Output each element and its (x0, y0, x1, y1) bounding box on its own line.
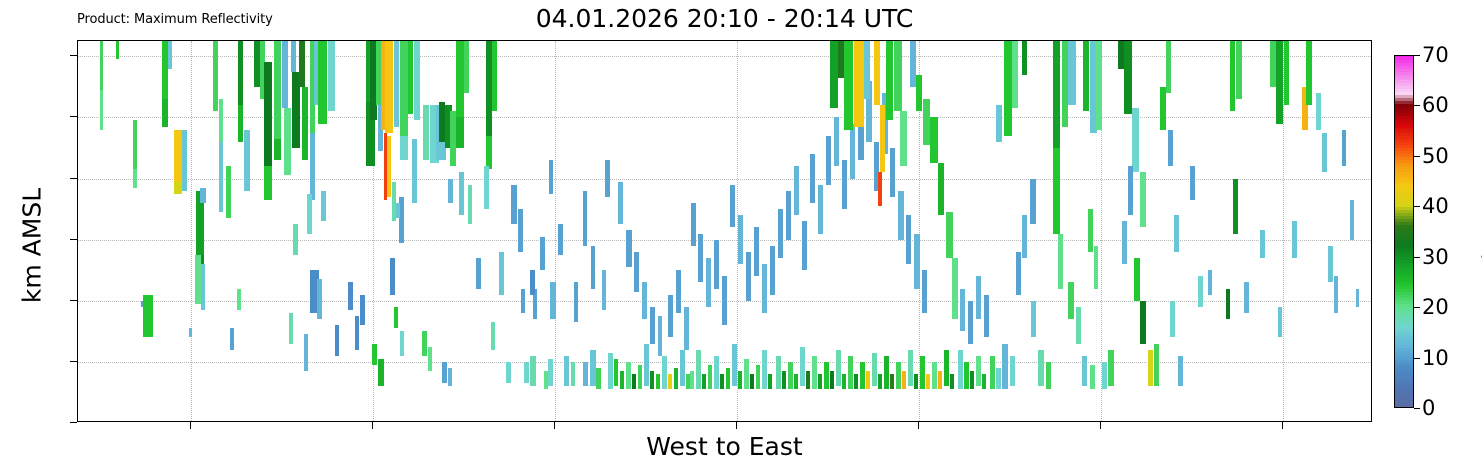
reflectivity-cell (906, 215, 911, 264)
reflectivity-cell (626, 362, 631, 390)
reflectivity-cell (230, 328, 234, 349)
reflectivity-cell (894, 41, 902, 111)
reflectivity-cell (291, 41, 296, 72)
reflectivity-cell (996, 105, 1002, 142)
reflectivity-cell (902, 371, 906, 389)
reflectivity-cell (1178, 356, 1183, 387)
reflectivity-cell (886, 41, 893, 120)
reflectivity-cell (355, 316, 359, 350)
reflectivity-cell (632, 374, 636, 389)
reflectivity-cell (614, 359, 618, 387)
reflectivity-cell (162, 99, 168, 127)
reflectivity-cell (1226, 289, 1230, 320)
colorbar-tick-label-0: 0 (1422, 396, 1435, 420)
reflectivity-cell (1148, 350, 1153, 387)
reflectivity-cell (1134, 258, 1140, 301)
reflectivity-cell (1122, 221, 1127, 264)
reflectivity-cell (864, 41, 870, 99)
reflectivity-cell (656, 374, 660, 389)
reflectivity-cell (237, 289, 241, 310)
reflectivity-cell (602, 270, 606, 310)
reflectivity-cell (938, 371, 942, 389)
reflectivity-cell (878, 172, 882, 206)
reflectivity-cell (706, 258, 711, 307)
reflectivity-cell (824, 362, 829, 390)
reflectivity-cell (818, 374, 822, 389)
reflectivity-cell (1342, 130, 1346, 167)
reflectivity-cell (996, 368, 1001, 389)
reflectivity-cell (938, 163, 944, 215)
reflectivity-cell (583, 362, 588, 386)
reflectivity-cell (274, 41, 281, 139)
reflectivity-cell (1230, 41, 1235, 111)
reflectivity-cell (860, 362, 865, 390)
reflectivity-cell (1038, 350, 1044, 387)
reflectivity-cell (464, 41, 469, 93)
reflectivity-cell (794, 374, 798, 389)
reflectivity-cell (1284, 41, 1289, 105)
reflectivity-cell (872, 353, 877, 387)
reflectivity-cell (1276, 41, 1283, 124)
colorbar-tick-label-10: 10 (1422, 346, 1449, 370)
reflectivity-cell (1096, 41, 1102, 130)
reflectivity-cell (100, 41, 103, 90)
reflectivity-cell (414, 41, 420, 120)
reflectivity-cell (818, 185, 823, 234)
reflectivity-cell (511, 185, 517, 225)
y-tick-mark-8 (70, 178, 77, 179)
reflectivity-cell (890, 148, 895, 197)
reflectivity-cell (768, 374, 772, 389)
reflectivity-cell (299, 41, 305, 87)
reflectivity-cell (946, 212, 953, 258)
reflectivity-cell (328, 41, 335, 111)
reflectivity-cell (394, 307, 398, 328)
reflectivity-cell (549, 160, 553, 194)
reflectivity-cell (448, 179, 453, 203)
reflectivity-cell (264, 62, 272, 166)
reflectivity-cell (1094, 246, 1098, 289)
reflectivity-cell (491, 322, 495, 350)
reflectivity-cell (1208, 270, 1212, 294)
reflectivity-cell (1322, 133, 1327, 173)
reflectivity-cell (638, 365, 642, 389)
reflectivity-cell (238, 41, 243, 105)
reflectivity-cell (521, 289, 525, 313)
reflectivity-cell (422, 331, 427, 355)
reflectivity-cell (1316, 93, 1321, 130)
reflectivity-cell (874, 41, 880, 105)
reflectivity-cell (448, 368, 452, 386)
reflectivity-cell (730, 185, 735, 228)
reflectivity-cell (932, 362, 937, 390)
reflectivity-cell (930, 117, 938, 163)
reflectivity-cell (1076, 307, 1081, 344)
reflectivity-cell (1053, 41, 1060, 148)
reflectivity-cell (848, 356, 853, 390)
reflectivity-cell (680, 350, 685, 387)
reflectivity-cell (1198, 276, 1203, 307)
reflectivity-cell (908, 350, 913, 387)
reflectivity-cell (400, 331, 404, 355)
colorbar-tick-mark-50 (1414, 156, 1420, 157)
reflectivity-cell (530, 270, 535, 294)
x-tick-mark-1 (372, 422, 373, 429)
reflectivity-cell (854, 374, 858, 389)
reflectivity-cell (776, 356, 781, 390)
reflectivity-cell (944, 350, 949, 387)
reflectivity-cell (289, 313, 293, 344)
reflectivity-cell (201, 264, 205, 310)
reflectivity-cell (722, 276, 727, 325)
reflectivity-cell (1244, 282, 1249, 313)
reflectivity-cell (898, 191, 904, 240)
y-tick-mark-4 (70, 300, 77, 301)
reflectivity-cell (558, 224, 563, 255)
reflectivity-cell (1278, 307, 1282, 338)
reflectivity-cell (574, 282, 578, 322)
reflectivity-cell (1090, 365, 1095, 389)
reflectivity-cell (423, 105, 429, 160)
reflectivity-cell (826, 136, 831, 185)
reflectivity-cell (976, 276, 981, 319)
reflectivity-cell (690, 371, 694, 389)
y-tick-mark-12 (70, 55, 77, 56)
reflectivity-cell (1002, 344, 1008, 390)
reflectivity-cell (914, 374, 918, 389)
reflectivity-cell (714, 356, 719, 390)
reflectivity-cell (168, 41, 172, 69)
reflectivity-cell (878, 374, 882, 389)
colorbar-tick-label-40: 40 (1422, 194, 1449, 218)
reflectivity-cell (1083, 41, 1089, 111)
reflectivity-cell (1306, 41, 1312, 105)
reflectivity-cell (900, 111, 907, 166)
reflectivity-cell (1031, 301, 1036, 338)
reflectivity-cell (274, 139, 281, 160)
x-tick-mark-6 (1282, 422, 1283, 429)
reflectivity-cell (412, 139, 417, 203)
reflectivity-cell (674, 368, 678, 389)
reflectivity-cell (400, 136, 408, 160)
reflectivity-cell (524, 362, 529, 383)
reflectivity-cell (1236, 41, 1242, 99)
reflectivity-cell (696, 350, 701, 390)
reflectivity-cell (540, 237, 545, 271)
reflectivity-cell (691, 203, 696, 246)
reflectivity-cell (1334, 276, 1338, 313)
reflectivity-cell (802, 221, 807, 270)
reflectivity-cell (1160, 87, 1166, 130)
reflectivity-cell (189, 328, 192, 337)
reflectivity-cell (854, 41, 864, 127)
reflectivity-cell (952, 258, 958, 319)
reflectivity-cell (456, 41, 464, 117)
reflectivity-cell (750, 374, 754, 389)
reflectivity-cell (662, 356, 667, 390)
x-axis-label: West to East (77, 432, 1372, 461)
x-tick-mark-0 (190, 422, 191, 429)
reflectivity-cell (984, 295, 989, 338)
reflectivity-cell (591, 246, 595, 289)
reflectivity-cell (620, 371, 624, 389)
reflectivity-cell (1012, 41, 1018, 108)
reflectivity-cell (213, 41, 218, 111)
reflectivity-cell (1010, 356, 1015, 387)
reflectivity-cell (890, 374, 894, 389)
reflectivity-cell (834, 117, 839, 166)
reflectivity-cell (1154, 344, 1159, 387)
reflectivity-cell (698, 234, 703, 283)
reflectivity-cell (800, 347, 805, 387)
colorbar-tick-label-30: 30 (1422, 245, 1449, 269)
reflectivity-cell (456, 117, 464, 148)
reflectivity-cell (634, 252, 639, 292)
reflectivity-cell (923, 99, 930, 145)
reflectivity-cell (335, 325, 339, 356)
reflectivity-cell (1046, 362, 1051, 390)
reflectivity-cell (1140, 301, 1146, 344)
reflectivity-cell (794, 166, 799, 215)
reflectivity-cell (200, 188, 206, 203)
y-tick-mark-6 (70, 239, 77, 240)
reflectivity-cell (1233, 179, 1238, 234)
reflectivity-cell (100, 90, 103, 130)
reflectivity-cell (668, 295, 673, 338)
reflectivity-cell (133, 169, 137, 187)
reflectivity-cell (264, 166, 272, 200)
reflectivity-cell (708, 365, 712, 389)
y-tick-mark-10 (70, 116, 77, 117)
reflectivity-cell (756, 365, 760, 389)
reflectivity-cell (866, 371, 870, 389)
reflectivity-cell (884, 356, 889, 390)
colorbar-tick-mark-60 (1414, 105, 1420, 106)
reflectivity-cell (746, 252, 751, 301)
reflectivity-cell (219, 99, 223, 142)
reflectivity-cell (738, 215, 743, 264)
reflectivity-cell (920, 356, 925, 390)
reflectivity-cell (1166, 41, 1171, 93)
reflectivity-cell (1170, 301, 1175, 338)
reflectivity-cell (676, 270, 681, 313)
x-tick-mark-4 (918, 422, 919, 429)
colorbar-tick-mark-0 (1414, 408, 1420, 409)
reflectivity-cell (786, 191, 791, 240)
reflectivity-cell (830, 371, 834, 389)
reflectivity-cell (1350, 200, 1354, 240)
reflectivity-cell (318, 41, 327, 124)
reflectivity-cell (762, 350, 767, 390)
reflectivity-cell (428, 347, 432, 371)
reflectivity-cell (544, 371, 548, 389)
reflectivity-cell (1124, 41, 1132, 114)
colorbar-tick-mark-20 (1414, 307, 1420, 308)
reflectivity-cell (1356, 289, 1359, 307)
reflectivity-cell (914, 234, 920, 289)
x-tick-mark-3 (736, 422, 737, 429)
reflectivity-cell (1328, 246, 1333, 283)
reflectivity-cell (1058, 234, 1063, 289)
reflectivity-cell (307, 194, 312, 234)
reflectivity-cell (922, 270, 927, 313)
reflectivity-cell (658, 316, 662, 356)
reflectivity-cell (668, 374, 672, 389)
reflectivity-cell (916, 75, 922, 112)
reflectivity-cell (530, 356, 536, 387)
reflectivity-cell (1174, 215, 1179, 252)
reflectivity-cell (486, 136, 492, 170)
colorbar-tick-mark-30 (1414, 257, 1420, 258)
reflectivity-cell (1128, 166, 1133, 215)
reflectivity-cell (762, 264, 767, 313)
reflectivity-cell (1082, 356, 1087, 387)
x-tick-mark-2 (554, 422, 555, 429)
reflectivity-cell (968, 301, 973, 344)
reflectivity-cell (499, 252, 504, 295)
reflectivity-cell (174, 130, 182, 182)
reflectivity-cell (836, 350, 841, 387)
reflectivity-cell (182, 130, 187, 191)
reflectivity-columns (78, 41, 1371, 421)
reflectivity-cell (442, 362, 447, 383)
reflectivity-cell (770, 246, 775, 295)
reflectivity-cell (990, 356, 995, 390)
reflectivity-cell (958, 350, 963, 390)
reflectivity-cell (459, 172, 464, 215)
reflectivity-cell (880, 105, 885, 172)
reflectivity-cell (244, 130, 250, 191)
reflectivity-cell (1022, 215, 1027, 258)
reflectivity-cell (642, 282, 647, 319)
colorbar-tick-label-60: 60 (1422, 93, 1449, 117)
x-tick-mark-5 (1100, 422, 1101, 429)
reflectivity-cell (960, 289, 965, 332)
reflectivity-cell (744, 359, 749, 390)
reflectivity-cell (548, 359, 553, 387)
reflectivity-cell (1190, 166, 1195, 200)
reflectivity-cell (806, 371, 810, 389)
reflectivity-cell (468, 185, 472, 225)
reflectivity-cell (650, 307, 655, 344)
reflectivity-cell (219, 142, 223, 212)
reflectivity-cell (1102, 362, 1107, 390)
reflectivity-cell (372, 344, 377, 365)
reflectivity-cell (583, 191, 587, 246)
colorbar-tick-mark-70 (1414, 55, 1420, 56)
reflectivity-cell (360, 295, 365, 326)
reflectivity-cell (385, 41, 393, 133)
reflectivity-cell (317, 279, 322, 319)
reflectivity-cell (143, 295, 153, 338)
y-tick-mark-2 (70, 361, 77, 362)
reflectivity-cell (284, 108, 291, 175)
product-label: Product: Maximum Reflectivity (77, 12, 273, 27)
reflectivity-cell (348, 282, 353, 310)
reflectivity-cell (720, 374, 724, 389)
reflectivity-cell (950, 374, 954, 389)
reflectivity-cell (596, 368, 601, 389)
reflectivity-cell (982, 374, 986, 389)
reflectivity-cell (387, 136, 391, 197)
reflectivity-cell (390, 258, 395, 295)
reflectivity-cell (174, 182, 182, 194)
reflectivity-cell (506, 362, 511, 383)
reflectivity-cell (810, 154, 815, 203)
reflectivity-cell (492, 41, 497, 111)
reflectivity-cell (714, 240, 719, 289)
reflectivity-cell (1132, 108, 1139, 172)
reflectivity-cell (778, 209, 783, 258)
reflectivity-cell (293, 224, 298, 255)
reflectivity-cell (1140, 172, 1146, 227)
reflectivity-cell (378, 359, 384, 387)
reflectivity-cell (605, 160, 610, 197)
reflectivity-cell (321, 191, 326, 222)
reflectivity-cell (564, 356, 569, 387)
plot-area[interactable] (77, 40, 1372, 422)
reflectivity-cell (788, 362, 793, 390)
reflectivity-cell (1068, 41, 1076, 105)
reflectivity-cell (396, 203, 400, 218)
reflectivity-cell (842, 160, 847, 209)
reflectivity-cell (684, 307, 689, 350)
reflectivity-cell (1292, 221, 1297, 258)
reflectivity-cell (1053, 148, 1060, 234)
reflectivity-cell (926, 374, 930, 389)
colorbar-tick-label-70: 70 (1422, 43, 1449, 67)
reflectivity-cell (1068, 282, 1074, 319)
reflectivity-cell (302, 87, 308, 160)
reflectivity-cell (842, 374, 846, 389)
reflectivity-cell (1260, 230, 1265, 258)
reflectivity-cell (812, 356, 817, 390)
reflectivity-cell (550, 282, 556, 319)
reflectivity-cell (400, 41, 408, 136)
reflectivity-cell (394, 41, 399, 127)
reflectivity-cell (732, 344, 737, 387)
reflectivity-cell (608, 353, 613, 390)
reflectivity-cell (738, 371, 742, 389)
colorbar-band (1395, 55, 1413, 57)
reflectivity-cell (618, 182, 623, 225)
reflectivity-cell (484, 166, 489, 209)
reflectivity-cell (644, 344, 649, 387)
colorbar[interactable] (1394, 55, 1414, 408)
reflectivity-cell (754, 227, 759, 276)
reflectivity-cell (896, 362, 901, 390)
colorbar-tick-label-50: 50 (1422, 144, 1449, 168)
reflectivity-cell (282, 41, 288, 108)
colorbar-gradient (1394, 55, 1414, 408)
reflectivity-cell (1022, 41, 1027, 75)
reflectivity-cell (1108, 350, 1114, 387)
reflectivity-cell (310, 133, 315, 200)
reflectivity-cell (726, 368, 730, 389)
reflectivity-cell (571, 362, 575, 386)
reflectivity-cell (238, 105, 243, 142)
reflectivity-cell (626, 230, 632, 267)
reflectivity-cell (964, 362, 969, 390)
reflectivity-cell (1088, 209, 1093, 252)
reflectivity-cell (702, 374, 706, 389)
reflectivity-cell (830, 41, 838, 108)
colorbar-tick-label-20: 20 (1422, 295, 1449, 319)
reflectivity-cell (518, 209, 523, 252)
colorbar-tick-mark-10 (1414, 358, 1420, 359)
reflectivity-cell (408, 41, 413, 114)
reflectivity-cell (650, 371, 654, 389)
